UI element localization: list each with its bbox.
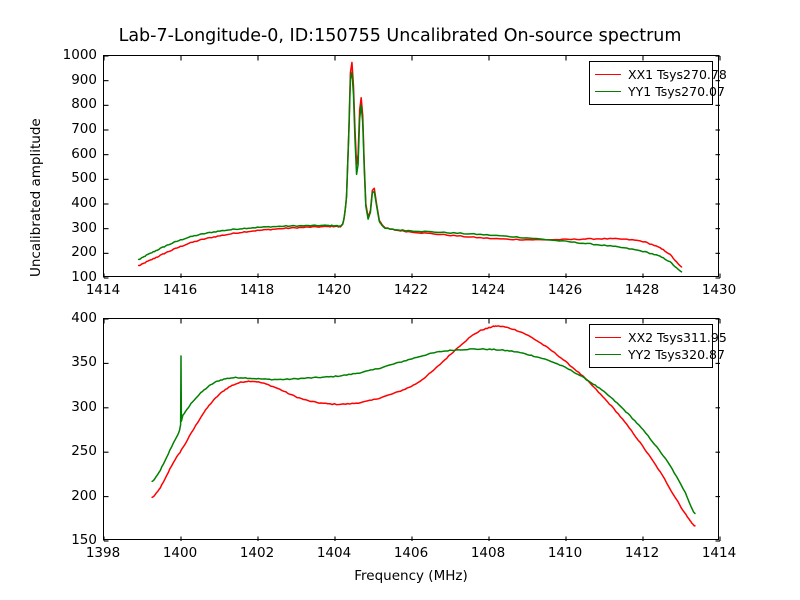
legend-color-swatch [595, 354, 621, 355]
series-line-2 [152, 349, 695, 514]
legend-item: XX1 Tsys270.78 [595, 66, 706, 83]
y-tick-label: 600 [37, 146, 97, 162]
y-tick-label: 200 [37, 488, 97, 504]
y-tick-label: 350 [37, 354, 97, 370]
legend-color-swatch [595, 337, 621, 338]
x-axis-label: Frequency (MHz) [103, 568, 719, 584]
y-tick-label: 400 [37, 195, 97, 211]
y-tick-label: 250 [37, 443, 97, 459]
legend[interactable]: XX1 Tsys270.78YY1 Tsys270.07 [589, 61, 713, 105]
x-tick-label: 1400 [150, 545, 210, 561]
y-tick-label: 1000 [37, 47, 97, 63]
x-tick-label: 1410 [535, 545, 595, 561]
y-tick-label: 900 [37, 72, 97, 88]
x-tick-label: 1416 [150, 282, 210, 298]
y-tick-label: 200 [37, 244, 97, 260]
legend-item: XX2 Tsys311.95 [595, 329, 706, 346]
x-tick-label: 1430 [689, 282, 749, 298]
y-tick-label: 300 [37, 220, 97, 236]
legend-color-swatch [595, 74, 621, 75]
y-tick-label: 800 [37, 96, 97, 112]
y-tick-label: 700 [37, 121, 97, 137]
page-title: Lab-7-Longitude-0, ID:150755 Uncalibrate… [0, 26, 800, 46]
x-tick-label: 1414 [689, 545, 749, 561]
y-tick-label: 500 [37, 170, 97, 186]
x-tick-label: 1422 [381, 282, 441, 298]
y-tick-label: 100 [37, 269, 97, 285]
x-tick-label: 1408 [458, 545, 518, 561]
y-tick-label: 400 [37, 310, 97, 326]
x-tick-label: 1404 [304, 545, 364, 561]
y-tick-label: 150 [37, 532, 97, 548]
legend-item: YY2 Tsys320.87 [595, 346, 706, 363]
legend[interactable]: XX2 Tsys311.95YY2 Tsys320.87 [589, 324, 713, 368]
x-tick-label: 1418 [227, 282, 287, 298]
legend-label: YY2 Tsys320.87 [628, 346, 725, 363]
y-tick-label: 300 [37, 399, 97, 415]
legend-label: XX1 Tsys270.78 [628, 66, 727, 83]
x-tick-label: 1424 [458, 282, 518, 298]
spectrum-figure: Lab-7-Longitude-0, ID:150755 Uncalibrate… [0, 0, 800, 600]
x-tick-label: 1426 [535, 282, 595, 298]
x-tick-label: 1412 [612, 545, 672, 561]
legend-color-swatch [595, 91, 621, 92]
legend-label: YY1 Tsys270.07 [628, 83, 725, 100]
x-tick-label: 1420 [304, 282, 364, 298]
legend-item: YY1 Tsys270.07 [595, 83, 706, 100]
legend-label: XX2 Tsys311.95 [628, 329, 727, 346]
x-tick-label: 1402 [227, 545, 287, 561]
x-tick-label: 1428 [612, 282, 672, 298]
x-tick-label: 1406 [381, 545, 441, 561]
